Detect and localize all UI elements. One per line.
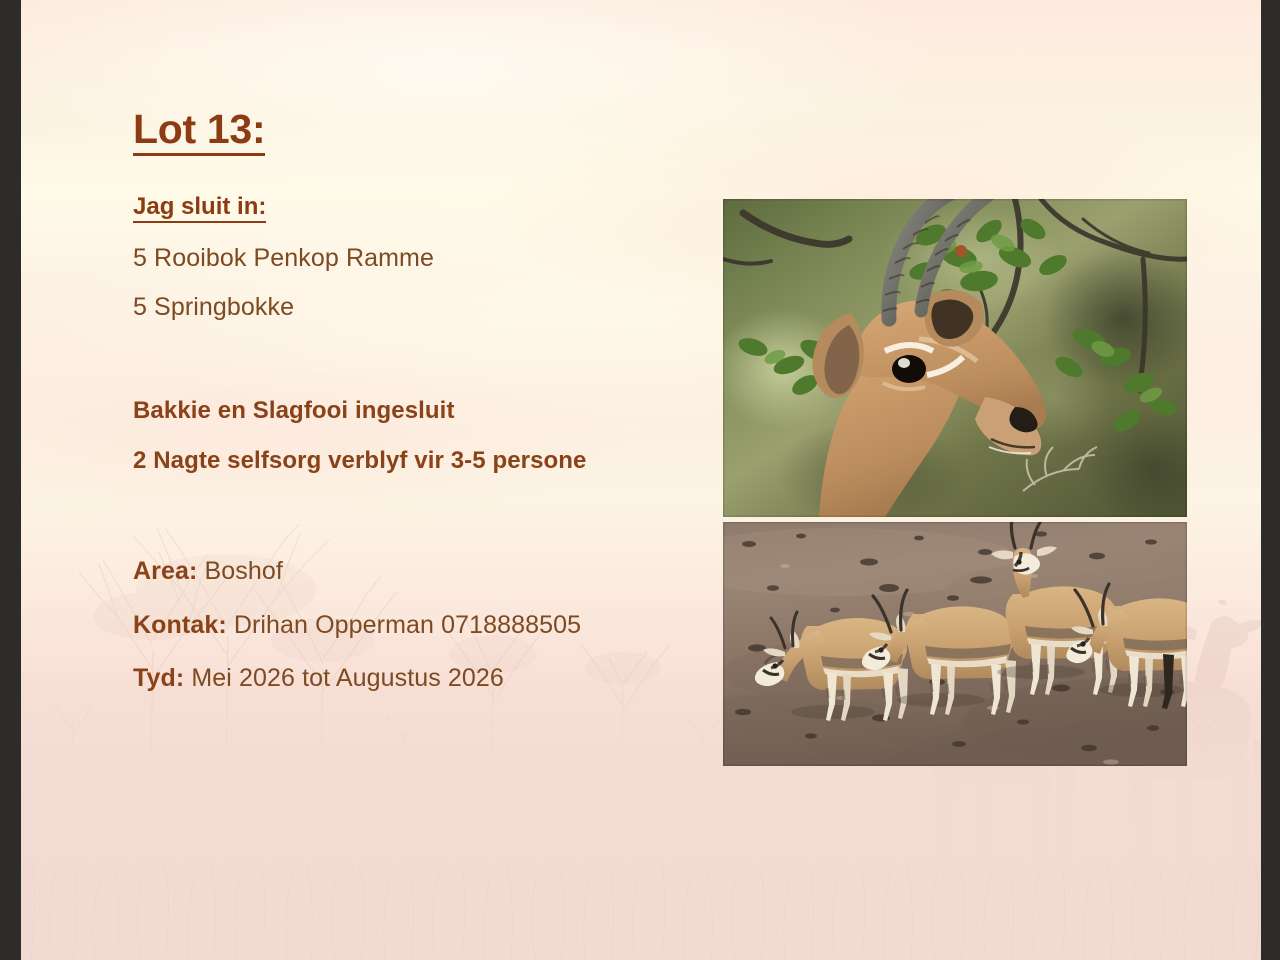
page-title: Lot 13: — [133, 108, 265, 156]
detail-label-area: Area: — [133, 557, 197, 585]
detail-value-tyd: Mei 2026 tot Augustus 2026 — [191, 664, 504, 692]
spacer — [133, 342, 653, 398]
spacer — [133, 498, 653, 558]
left-edge-bar — [0, 0, 21, 960]
slide-canvas: Lot 13: Jag sluit in: 5 Rooibok Penkop R… — [21, 0, 1261, 960]
slide-frame: Lot 13: Jag sluit in: 5 Rooibok Penkop R… — [0, 0, 1280, 960]
detail-value-area: Boshof — [204, 557, 282, 585]
list-item: 5 Springbokke — [133, 294, 653, 322]
highlight-line-accommodation: 2 Nagte selfsorg verblyf vir 3-5 persone — [133, 448, 653, 475]
right-edge-bar — [1261, 0, 1280, 960]
detail-row-tyd: Tyd: Mei 2026 tot Augustus 2026 — [133, 665, 653, 693]
detail-label-kontak: Kontak: — [133, 611, 227, 639]
lot-text-column: Lot 13: Jag sluit in: 5 Rooibok Penkop R… — [133, 108, 653, 719]
detail-row-kontak: Kontak: Drihan Opperman 0718888505 — [133, 612, 653, 640]
includes-heading: Jag sluit in: — [133, 194, 266, 223]
detail-value-kontak: Drihan Opperman 0718888505 — [234, 611, 581, 639]
detail-row-area: Area: Boshof — [133, 558, 653, 586]
includes-list: 5 Rooibok Penkop Ramme 5 Springbokke — [133, 245, 653, 321]
highlight-line-bakkie-slagfooi: Bakkie en Slagfooi ingesluit — [133, 398, 653, 425]
springbok-herd-photo — [723, 522, 1187, 766]
detail-label-tyd: Tyd: — [133, 664, 184, 692]
list-item: 5 Rooibok Penkop Ramme — [133, 245, 653, 273]
impala-ram-photo — [723, 199, 1187, 517]
